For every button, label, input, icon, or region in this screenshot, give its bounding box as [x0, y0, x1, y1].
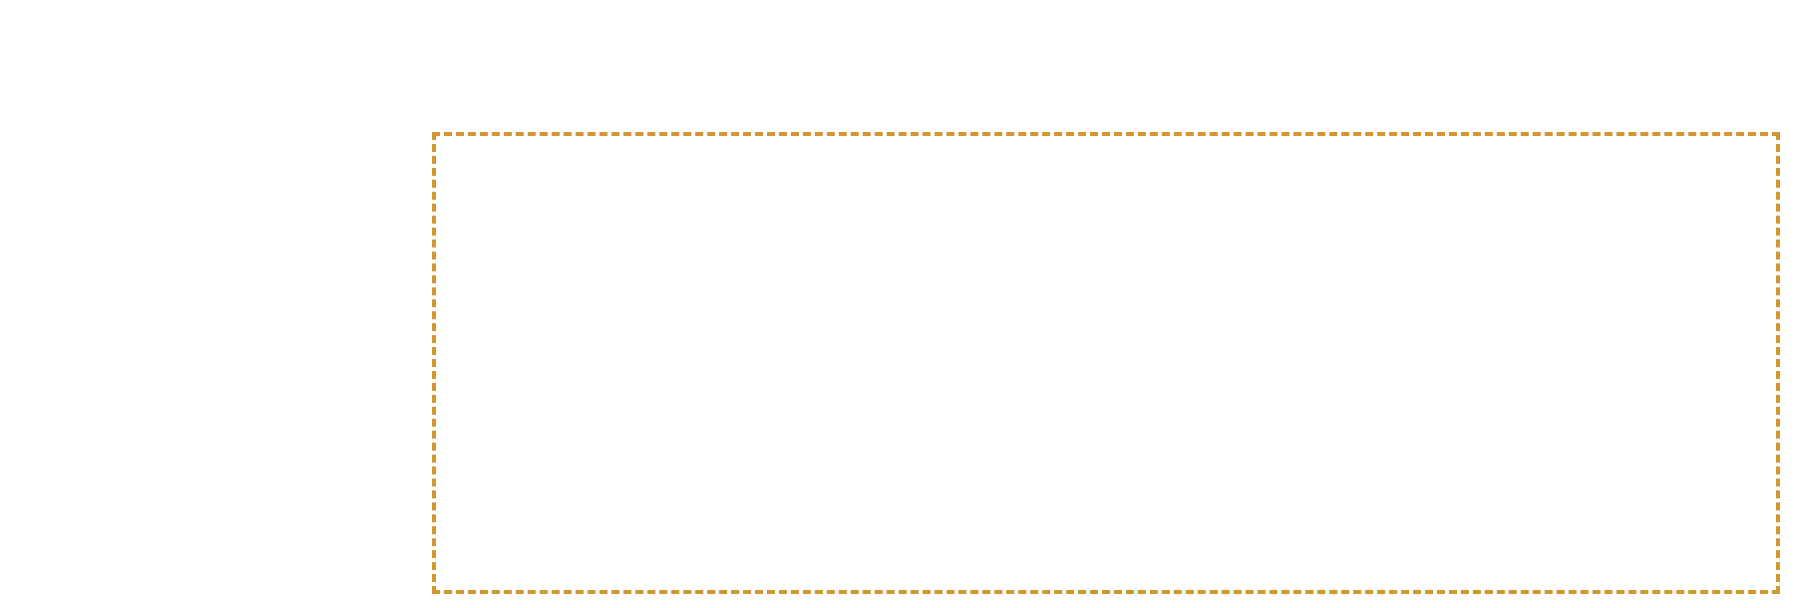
value-chain-diagram [0, 132, 1794, 598]
chevron-row [0, 154, 1794, 216]
page-title [0, 0, 1794, 30]
development-stage-row [0, 404, 1794, 500]
bullets-row [0, 236, 1794, 388]
